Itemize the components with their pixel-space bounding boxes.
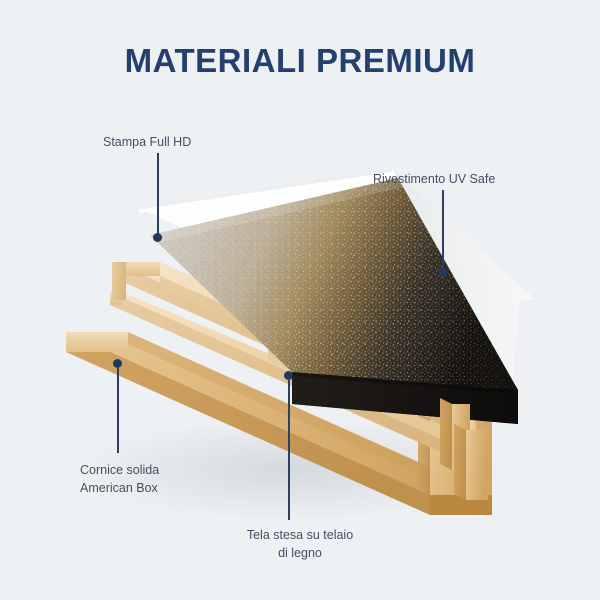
callout-dot-tela-stesa-su-telaio-di-legno	[284, 371, 293, 380]
callout-label-stampa-full-hd: Stampa Full HD	[103, 133, 191, 151]
callout-dot-stampa-full-hd	[153, 233, 162, 242]
leader-line-cornice-solida-american-box	[117, 368, 119, 453]
callout-dot-cornice-solida-american-box	[113, 359, 122, 368]
callout-dot-rivestimento-uv-safe	[438, 268, 447, 277]
callout-label-rivestimento-uv-safe: Rivestimento UV Safe	[373, 170, 495, 188]
artboard: MATERIALI PREMIUM Stampa Full HD Rivesti…	[0, 0, 600, 600]
poster-canvas: MATERIALI PREMIUM Stampa Full HD Rivesti…	[0, 0, 600, 600]
page-title: MATERIALI PREMIUM	[0, 42, 600, 80]
leader-line-stampa-full-hd	[157, 153, 159, 235]
callout-label-cornice-solida-american-box: Cornice solida American Box	[80, 461, 159, 497]
leader-line-tela-stesa-su-telaio-di-legno	[288, 380, 290, 520]
leader-line-rivestimento-uv-safe	[442, 190, 444, 268]
callout-label-tela-stesa-su-telaio-di-legno: Tela stesa su telaio di legno	[210, 526, 390, 562]
product-exploded-view	[0, 0, 600, 600]
